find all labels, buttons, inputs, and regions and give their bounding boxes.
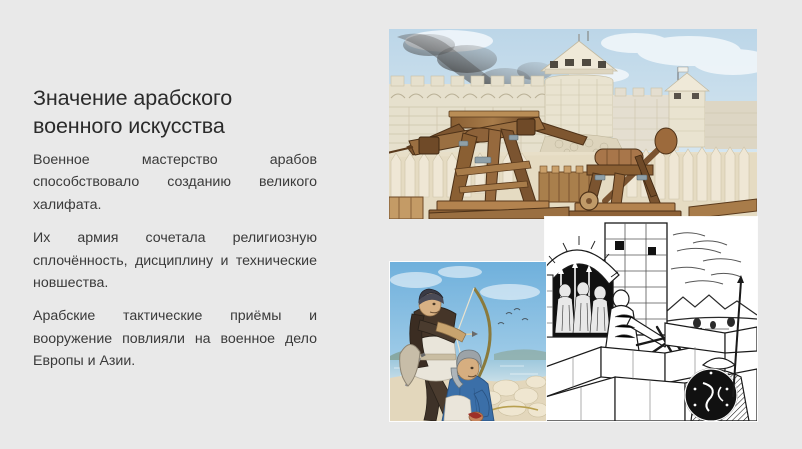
body-paragraph-3: Арабские тактические приёмы и вооружение… — [33, 305, 317, 372]
body-paragraph-2: Их армия сочетала религиозную сплочённос… — [33, 227, 317, 294]
siege-engines-illustration — [389, 29, 757, 219]
slide-text-column: Значение арабского военного искусства Во… — [33, 84, 317, 373]
page-title: Значение арабского военного искусства — [33, 84, 317, 140]
slide: Значение арабского военного искусства Во… — [0, 0, 802, 449]
body-paragraph-1: Военное мастерство арабов способствовало… — [33, 149, 317, 216]
archer-illustration — [390, 262, 546, 421]
siege-engraving — [545, 217, 757, 421]
